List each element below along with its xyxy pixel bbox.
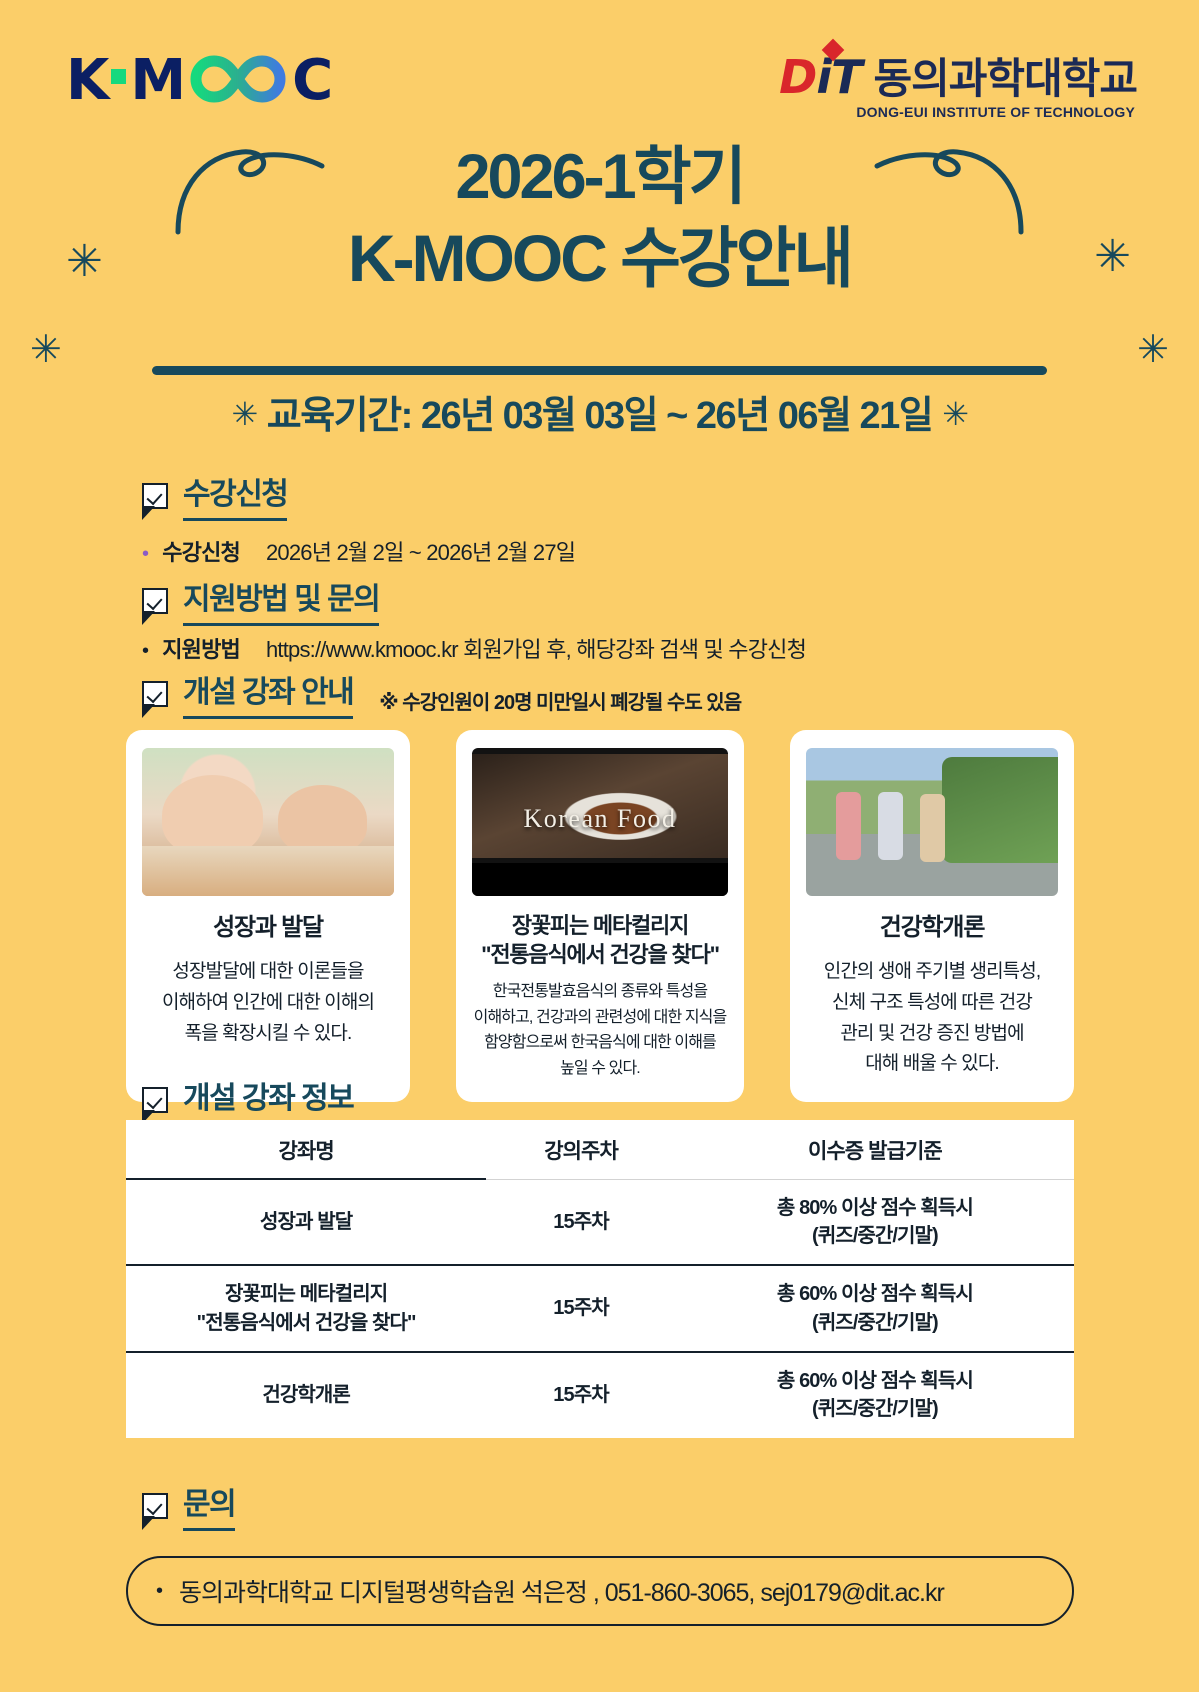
cell-weeks: 15주차: [486, 1265, 676, 1352]
cell-course-name-line1: 성장과 발달: [260, 1211, 352, 1233]
dit-logo-top: DiT 동의과학대학교: [779, 42, 1137, 100]
course-card-title: 장꽃피는 메타컬리지 "전통음식에서 건강을 찾다": [481, 912, 719, 969]
section-title-contact: 문의: [183, 1488, 235, 1531]
section-header-apply: 수강신청: [142, 478, 287, 521]
desc-line: 성장발달에 대한 이론들을: [172, 961, 363, 982]
desc-line: 이해하고, 건강과의 관련성에 대한 지식을: [474, 1009, 727, 1026]
cell-course-name-line2: "전통음식에서 건강을 찾다": [132, 1309, 480, 1337]
kmooc-logo-dot-icon: [111, 69, 126, 84]
swoosh-left-icon: [170, 146, 330, 236]
section-header-course-info: 개설 강좌 정보: [142, 1082, 353, 1125]
course-thumbnail-walking: [806, 748, 1058, 896]
cell-criteria-line1: 총 80% 이상 점수 획득시: [682, 1194, 1068, 1222]
bullet-dot-icon: •: [142, 544, 148, 564]
title-divider: [152, 366, 1047, 375]
dit-english-name: DONG-EUI INSTITUTE OF TECHNOLOGY: [779, 104, 1135, 120]
period-sparkle-right-icon: ✳: [942, 395, 967, 433]
cell-weeks: 15주차: [486, 1352, 676, 1438]
bullet-dot-icon: •: [142, 641, 148, 661]
bullet-apply-period: • 수강신청 2026년 2월 2일 ~ 2026년 2월 27일: [142, 535, 575, 567]
poster-root: K M C Di: [0, 0, 1199, 1692]
check-bubble-icon: [142, 1087, 168, 1113]
section-title-courses: 개설 강좌 안내: [183, 676, 353, 719]
cell-course-name: 장꽃피는 메타컬리지 "전통음식에서 건강을 찾다": [126, 1265, 486, 1352]
course-thumbnail-korean-food: Korean Food: [472, 748, 728, 896]
desc-line: 신체 구조 특성에 따른 건강: [832, 992, 1032, 1013]
swoosh-right-icon: [869, 146, 1029, 236]
course-card[interactable]: 건강학개론 인간의 생애 주기별 생리특성, 신체 구조 특성에 따른 건강 관…: [790, 730, 1074, 1102]
cell-criteria: 총 80% 이상 점수 획득시 (퀴즈/중간/기말): [676, 1179, 1074, 1265]
course-card-description: 한국전통발효음식의 종류와 특성을 이해하고, 건강과의 관련성에 대한 지식을…: [474, 979, 727, 1081]
sparkle-icon-bottom-right: ✳: [1137, 330, 1169, 368]
cell-criteria: 총 60% 이상 점수 획득시 (퀴즈/중간/기말): [676, 1352, 1074, 1438]
title-block: 2026-1학기 K-MOOC 수강안내: [0, 140, 1199, 298]
bullet-value-howto[interactable]: https://www.kmooc.kr 회원가입 후, 해당강좌 검색 및 수…: [266, 632, 806, 664]
desc-line: 이해하여 인간에 대한 이해의: [162, 992, 374, 1013]
course-info-table: 강좌명 강의주차 이수증 발급기준 성장과 발달 15주차 총 80% 이상 점…: [126, 1120, 1074, 1438]
kmooc-logo-m: M: [130, 53, 184, 109]
sparkle-icon-bottom-left: ✳: [30, 330, 62, 368]
desc-line: 관리 및 건강 증진 방법에: [840, 1023, 1023, 1044]
course-card-title: 성장과 발달: [213, 912, 323, 943]
desc-line: 인간의 생애 주기별 생리특성,: [824, 961, 1040, 982]
course-card-title: 건강학개론: [880, 912, 984, 943]
bullet-value-apply: 2026년 2월 2일 ~ 2026년 2월 27일: [266, 535, 575, 567]
bullet-label-howto: 지원방법: [162, 632, 240, 664]
cell-course-name-line1: 장꽃피는 메타컬리지: [132, 1280, 480, 1308]
course-card[interactable]: 성장과 발달 성장발달에 대한 이론들을 이해하여 인간에 대한 이해의 폭을 …: [126, 730, 410, 1102]
table-row: 건강학개론 15주차 총 60% 이상 점수 획득시 (퀴즈/중간/기말): [126, 1352, 1074, 1438]
section-header-courses: 개설 강좌 안내 ※ 수강인원이 20명 미만일시 폐강될 수도 있음: [142, 676, 741, 719]
course-card-list: 성장과 발달 성장발달에 대한 이론들을 이해하여 인간에 대한 이해의 폭을 …: [126, 730, 1074, 1102]
sparkle-icon-top-right: ✳: [1094, 235, 1131, 279]
desc-line: 함양함으로써 한국음식에 대한 이해를: [484, 1034, 716, 1051]
contact-info-text[interactable]: 동의과학대학교 디지털평생학습원 석은정 , 051-860-3065, sej…: [179, 1573, 944, 1609]
cell-criteria-line1: 총 60% 이상 점수 획득시: [682, 1367, 1068, 1395]
table-header-course-name: 강좌명: [126, 1120, 486, 1179]
check-bubble-icon: [142, 588, 168, 614]
cell-criteria-line2: (퀴즈/중간/기말): [682, 1395, 1068, 1423]
education-period: ✳교육기간: 26년 03월 03일 ~ 26년 06월 21일✳: [0, 384, 1199, 439]
course-thumbnail-children-study: [142, 748, 394, 896]
course-card-title-line2: "전통음식에서 건강을 찾다": [481, 941, 719, 970]
table-header-row: 강좌명 강의주차 이수증 발급기준: [126, 1120, 1074, 1179]
table-header-criteria: 이수증 발급기준: [676, 1120, 1074, 1179]
kmooc-logo-c: C: [292, 53, 331, 109]
course-card-description: 성장발달에 대한 이론들을 이해하여 인간에 대한 이해의 폭을 확장시킬 수 …: [162, 957, 374, 1049]
cell-weeks: 15주차: [486, 1179, 676, 1265]
kmooc-logo-k: K: [66, 53, 107, 109]
desc-line: 한국전통발효음식의 종류와 특성을: [493, 983, 707, 1000]
dit-korean-name: 동의과학대학교: [874, 58, 1137, 100]
desc-line: 대해 배울 수 있다.: [865, 1053, 999, 1074]
sparkle-icon-top-left: ✳: [66, 240, 103, 284]
cell-criteria: 총 60% 이상 점수 획득시 (퀴즈/중간/기말): [676, 1265, 1074, 1352]
contact-info-box: • 동의과학대학교 디지털평생학습원 석은정 , 051-860-3065, s…: [126, 1556, 1074, 1626]
section-title-apply: 수강신청: [183, 478, 287, 521]
bullet-dot-icon: •: [156, 1581, 163, 1601]
section-title-howto: 지원방법 및 문의: [183, 583, 379, 626]
course-card-title-line1: 장꽃피는 메타컬리지: [512, 913, 688, 938]
desc-line: 높일 수 있다.: [560, 1060, 640, 1077]
period-text: 교육기간: 26년 03월 03일 ~ 26년 06월 21일: [267, 395, 932, 437]
cell-course-name: 성장과 발달: [126, 1179, 486, 1265]
cell-criteria-line2: (퀴즈/중간/기말): [682, 1222, 1068, 1250]
period-sparkle-left-icon: ✳: [231, 395, 256, 433]
bullet-howto: • 지원방법 https://www.kmooc.kr 회원가입 후, 해당강좌…: [142, 632, 806, 664]
cell-criteria-line1: 총 60% 이상 점수 획득시: [682, 1280, 1068, 1308]
table-row: 성장과 발달 15주차 총 80% 이상 점수 획득시 (퀴즈/중간/기말): [126, 1179, 1074, 1265]
logo-row: K M C Di: [0, 42, 1199, 124]
course-info-table-wrapper: 강좌명 강의주차 이수증 발급기준 성장과 발달 15주차 총 80% 이상 점…: [126, 1120, 1074, 1438]
check-bubble-icon: [142, 681, 168, 707]
section-title-course-info: 개설 강좌 정보: [183, 1082, 353, 1125]
course-card-title-line1: 성장과 발달: [213, 914, 323, 941]
cell-course-name: 건강학개론: [126, 1352, 486, 1438]
check-bubble-icon: [142, 483, 168, 509]
video-letterbox-bar: [472, 863, 728, 896]
bullet-label-apply: 수강신청: [162, 535, 240, 567]
dit-wordmark: DiT: [779, 54, 861, 100]
table-header-weeks: 강의주차: [486, 1120, 676, 1179]
dit-letter-d: D: [779, 50, 816, 104]
thumbnail-caption: Korean Food: [472, 804, 728, 834]
kmooc-logo: K M C: [66, 50, 331, 112]
cell-criteria-line2: (퀴즈/중간/기말): [682, 1309, 1068, 1337]
section-header-contact: 문의: [142, 1488, 235, 1531]
kmooc-infinity-icon: [186, 51, 290, 112]
desc-line: 폭을 확장시킬 수 있다.: [185, 1023, 352, 1044]
check-bubble-icon: [142, 1493, 168, 1519]
course-card[interactable]: Korean Food 장꽃피는 메타컬리지 "전통음식에서 건강을 찾다" 한…: [456, 730, 744, 1102]
section-header-howto: 지원방법 및 문의: [142, 583, 379, 626]
table-row: 장꽃피는 메타컬리지 "전통음식에서 건강을 찾다" 15주차 총 60% 이상…: [126, 1265, 1074, 1352]
dit-letter-it: iT: [816, 50, 861, 104]
course-card-title-line1: 건강학개론: [880, 914, 984, 941]
dit-logo: DiT 동의과학대학교 DONG-EUI INSTITUTE OF TECHNO…: [779, 42, 1137, 122]
cell-course-name-line1: 건강학개론: [262, 1384, 350, 1406]
section-note-courses: ※ 수강인원이 20명 미만일시 폐강될 수도 있음: [379, 686, 741, 715]
course-card-description: 인간의 생애 주기별 생리특성, 신체 구조 특성에 따른 건강 관리 및 건강…: [824, 957, 1040, 1080]
